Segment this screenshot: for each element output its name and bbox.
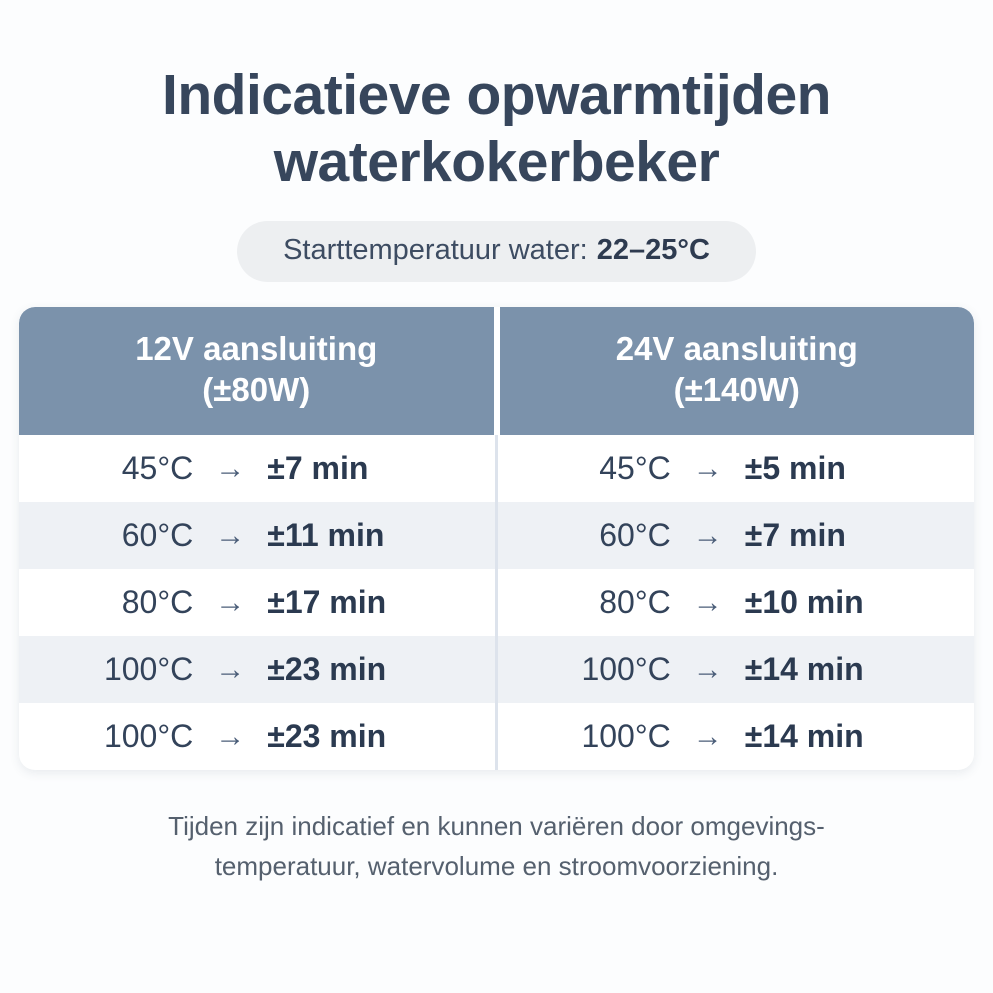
column-header-12v: 12V aansluiting (±80W) (19, 307, 494, 435)
arrow-right-icon: → (693, 588, 723, 618)
temperature-value: 100°C (73, 651, 193, 688)
infographic-page: Indicatieve opwarmtijden waterkokerbeker… (0, 0, 993, 993)
time-value: ±5 min (745, 450, 920, 487)
column-header-12v-title: 12V aansluiting (29, 329, 484, 370)
arrow-right-icon: → (215, 655, 245, 685)
cell-12v: 80°C → ±17 min (19, 569, 497, 636)
page-title-line-1: Indicatieve opwarmtijden (67, 62, 927, 129)
column-header-12v-power: (±80W) (29, 370, 484, 411)
time-value: ±23 min (267, 718, 442, 755)
page-title-line-2: waterkokerbeker (67, 129, 927, 196)
arrow-right-icon: → (215, 454, 245, 484)
time-value: ±14 min (745, 718, 920, 755)
heating-times-table: 12V aansluiting (±80W) 24V aansluiting (… (19, 307, 974, 770)
footer-note: Tijden zijn indicatief en kunnen variëre… (82, 806, 912, 887)
temperature-value: 100°C (551, 718, 671, 755)
time-value: ±7 min (745, 517, 920, 554)
arrow-right-icon: → (215, 722, 245, 752)
time-value: ±14 min (745, 651, 920, 688)
temperature-value: 45°C (551, 450, 671, 487)
table-body: 45°C → ±7 min 45°C → ±5 min 60°C → ±11 m… (19, 435, 974, 770)
table-header-row: 12V aansluiting (±80W) 24V aansluiting (… (19, 307, 974, 435)
time-value: ±23 min (267, 651, 442, 688)
time-value: ±10 min (745, 584, 920, 621)
column-header-24v-power: (±140W) (510, 370, 965, 411)
time-value: ±11 min (267, 517, 442, 554)
start-temperature-label: Starttemperatuur water: (283, 234, 588, 267)
temperature-value: 80°C (551, 584, 671, 621)
cell-24v: 100°C → ±14 min (497, 703, 975, 770)
cell-24v: 80°C → ±10 min (497, 569, 975, 636)
arrow-right-icon: → (215, 521, 245, 551)
column-header-24v: 24V aansluiting (±140W) (500, 307, 975, 435)
temperature-value: 45°C (73, 450, 193, 487)
cell-24v: 45°C → ±5 min (497, 435, 975, 502)
start-temperature-value: 22–25°C (597, 234, 710, 267)
temperature-value: 100°C (73, 718, 193, 755)
arrow-right-icon: → (693, 655, 723, 685)
subtitle-pill-wrapper: Starttemperatuur water: 22–25°C (0, 221, 993, 282)
temperature-value: 60°C (73, 517, 193, 554)
temperature-value: 100°C (551, 651, 671, 688)
time-value: ±17 min (267, 584, 442, 621)
arrow-right-icon: → (693, 521, 723, 551)
arrow-right-icon: → (693, 722, 723, 752)
temperature-value: 60°C (551, 517, 671, 554)
temperature-value: 80°C (73, 584, 193, 621)
cell-12v: 45°C → ±7 min (19, 435, 497, 502)
cell-24v: 60°C → ±7 min (497, 502, 975, 569)
footer-note-line-2: temperatuur, watervolume en stroomvoorzi… (82, 846, 912, 886)
footer-note-line-1: Tijden zijn indicatief en kunnen variëre… (82, 806, 912, 846)
arrow-right-icon: → (215, 588, 245, 618)
arrow-right-icon: → (693, 454, 723, 484)
cell-12v: 100°C → ±23 min (19, 636, 497, 703)
time-value: ±7 min (267, 450, 442, 487)
cell-12v: 60°C → ±11 min (19, 502, 497, 569)
column-header-24v-title: 24V aansluiting (510, 329, 965, 370)
start-temperature-pill: Starttemperatuur water: 22–25°C (237, 221, 756, 282)
cell-24v: 100°C → ±14 min (497, 636, 975, 703)
cell-12v: 100°C → ±23 min (19, 703, 497, 770)
page-title: Indicatieve opwarmtijden waterkokerbeker (67, 62, 927, 195)
column-divider (495, 435, 498, 770)
